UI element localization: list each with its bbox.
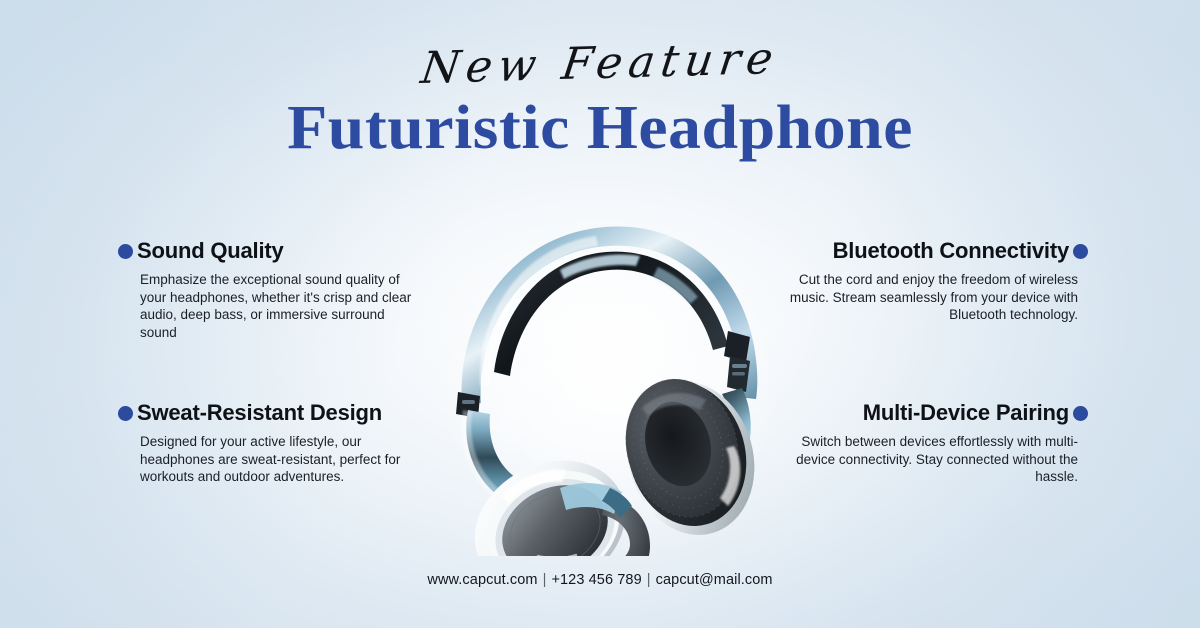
footer-website[interactable]: www.capcut.com	[427, 572, 537, 588]
feature-body: Switch between devices effortlessly with…	[788, 433, 1088, 486]
feature-title: Bluetooth Connectivity	[833, 238, 1069, 264]
footer-phone[interactable]: +123 456 789	[551, 572, 641, 588]
feature-title: Multi-Device Pairing	[863, 400, 1069, 426]
footer-contact-bar: www.capcut.com|+123 456 789|capcut@mail.…	[0, 572, 1200, 588]
footer-separator-2: |	[642, 572, 656, 588]
bullet-dot-icon	[118, 406, 133, 421]
footer-separator-1: |	[538, 572, 552, 588]
feature-heading: Sound Quality	[118, 238, 418, 264]
page-title: Futuristic Headphone	[0, 93, 1200, 164]
bullet-dot-icon	[118, 244, 133, 259]
feature-heading: Multi-Device Pairing	[788, 400, 1088, 426]
footer-email[interactable]: capcut@mail.com	[656, 572, 773, 588]
feature-body: Designed for your active lifestyle, our …	[118, 433, 418, 486]
feature-heading: Sweat-Resistant Design	[118, 400, 418, 426]
feature-bluetooth-connectivity: Bluetooth Connectivity Cut the cord and …	[788, 238, 1088, 324]
feature-heading: Bluetooth Connectivity	[788, 238, 1088, 264]
feature-title: Sound Quality	[137, 238, 284, 264]
feature-multi-device-pairing: Multi-Device Pairing Switch between devi…	[788, 400, 1088, 486]
bullet-dot-icon	[1073, 406, 1088, 421]
headphone-product-image	[410, 196, 810, 556]
feature-sweat-resistant-design: Sweat-Resistant Design Designed for your…	[118, 400, 418, 486]
feature-body: Cut the cord and enjoy the freedom of wi…	[788, 271, 1088, 324]
feature-sound-quality: Sound Quality Emphasize the exceptional …	[118, 238, 418, 341]
feature-body: Emphasize the exceptional sound quality …	[118, 271, 418, 341]
feature-title: Sweat-Resistant Design	[137, 400, 382, 426]
bullet-dot-icon	[1073, 244, 1088, 259]
poster-canvas: New Feature Futuristic Headphone Sound Q…	[0, 0, 1200, 628]
